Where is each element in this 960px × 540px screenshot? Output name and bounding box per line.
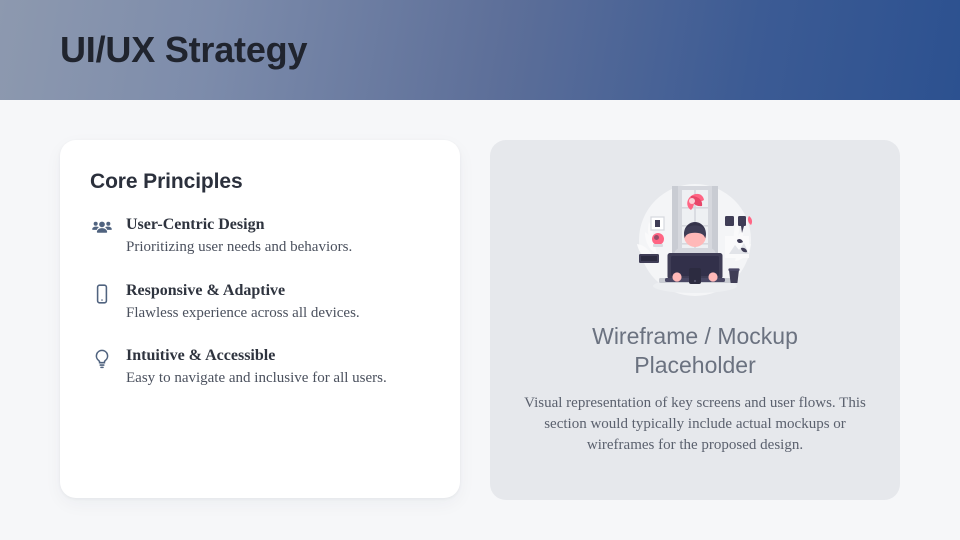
wireframe-placeholder-card: Wireframe / Mockup Placeholder Visual re… (490, 140, 900, 500)
person-at-desk-with-laptop-illustration (625, 174, 765, 306)
principle-description: Easy to navigate and inclusive for all u… (126, 369, 430, 389)
slide-header: UI/UX Strategy (0, 0, 960, 100)
slide-body: Core Principles User-Centric Design Prio… (0, 100, 960, 540)
placeholder-description: Visual representation of key screens and… (515, 393, 875, 457)
principle-item-user-centric-design: User-Centric Design Prioritizing user ne… (90, 215, 430, 258)
placeholder-title: Wireframe / Mockup Placeholder (545, 322, 845, 381)
principle-item-intuitive-accessible: Intuitive & Accessible Easy to navigate … (90, 346, 430, 389)
mobile-phone-icon (90, 283, 114, 307)
principle-title: Intuitive & Accessible (126, 346, 430, 366)
principle-description: Flawless experience across all devices. (126, 304, 430, 324)
principle-text: Responsive & Adaptive Flawless experienc… (126, 281, 430, 324)
lightbulb-icon (90, 348, 114, 372)
users-group-icon (90, 217, 114, 241)
slide-root: UI/UX Strategy Core Principles (0, 0, 960, 540)
core-principles-title: Core Principles (90, 170, 430, 193)
core-principles-card: Core Principles User-Centric Design Prio… (60, 140, 460, 498)
principle-title: User-Centric Design (126, 215, 430, 235)
principle-description: Prioritizing user needs and behaviors. (126, 238, 430, 258)
principle-text: User-Centric Design Prioritizing user ne… (126, 215, 430, 258)
principle-title: Responsive & Adaptive (126, 281, 430, 301)
page-title: UI/UX Strategy (60, 32, 307, 68)
principle-text: Intuitive & Accessible Easy to navigate … (126, 346, 430, 389)
principle-item-responsive-adaptive: Responsive & Adaptive Flawless experienc… (90, 281, 430, 324)
